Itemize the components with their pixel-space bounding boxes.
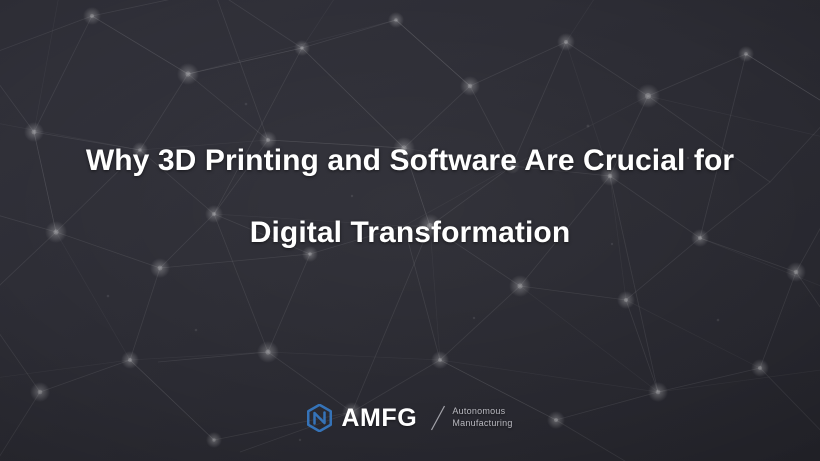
slide-title: Why 3D Printing and Software Are Crucial… — [0, 146, 820, 248]
amfg-hexagon-cube-icon — [307, 404, 332, 432]
tagline-line-2: Manufacturing — [452, 418, 512, 430]
slash-divider-icon — [428, 403, 448, 433]
title-line-1: Why 3D Printing and Software Are Crucial… — [30, 146, 790, 176]
title-slide: Why 3D Printing and Software Are Crucial… — [0, 0, 820, 461]
amfg-wordmark: AMFG — [341, 406, 417, 431]
amfg-logo-lockup: AMFG Autonomous Manufacturing — [0, 403, 820, 433]
title-line-2: Digital Transformation — [30, 218, 790, 248]
amfg-tagline: Autonomous Manufacturing — [452, 406, 512, 430]
tagline-line-1: Autonomous — [452, 406, 512, 418]
